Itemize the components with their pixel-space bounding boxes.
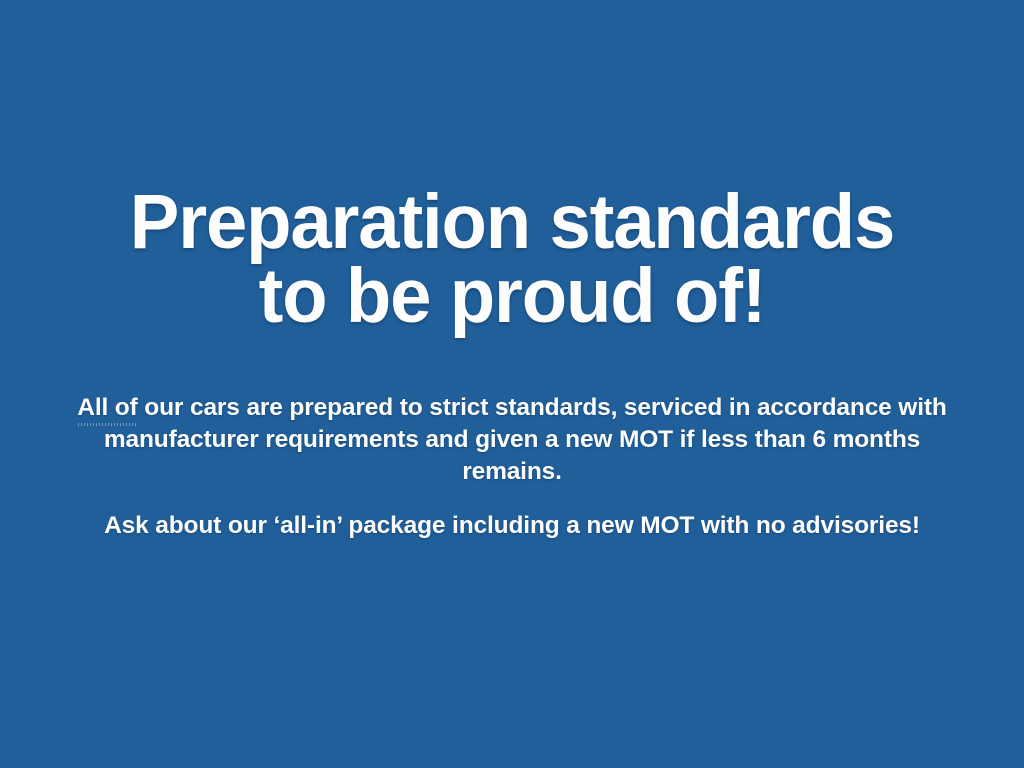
headline-line-1: Preparation standards bbox=[18, 186, 1006, 260]
body-paragraph-1-lead: All of bbox=[77, 394, 137, 421]
body-paragraph-1-rest: our cars are prepared to strict standard… bbox=[104, 394, 947, 485]
headline-line-2: to be proud of! bbox=[18, 260, 1006, 334]
promotional-slide: Preparation standards to be proud of! Al… bbox=[0, 0, 1024, 768]
body-paragraph-2: Ask about our ‘all-in’ package including… bbox=[67, 510, 957, 542]
headline: Preparation standards to be proud of! bbox=[0, 186, 1024, 334]
body-copy: All of our cars are prepared to strict s… bbox=[0, 392, 1024, 541]
body-paragraph-1: All of our cars are prepared to strict s… bbox=[67, 392, 957, 488]
